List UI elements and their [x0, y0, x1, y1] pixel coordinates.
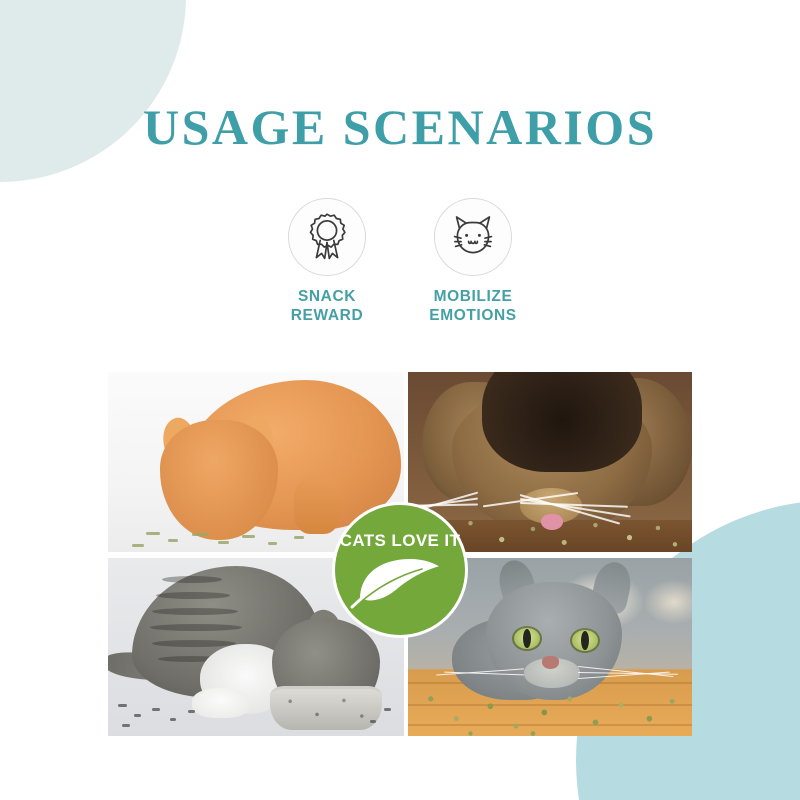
- badge-label: CATS LOVE IT: [340, 531, 461, 551]
- feature-label-snack-reward: SNACK REWARD: [291, 288, 364, 326]
- feature-mobilize-emotions: MOBILIZE EMOTIONS: [418, 198, 528, 326]
- leaf-icon: [348, 553, 452, 616]
- feature-list: SNACK REWARD MOBILIZE EMOTIONS: [272, 198, 528, 326]
- cat-face-icon: [434, 198, 512, 276]
- feature-snack-reward: SNACK REWARD: [272, 198, 382, 326]
- cats-love-it-badge: CATS LOVE IT: [332, 502, 468, 638]
- award-ribbon-icon: [288, 198, 366, 276]
- feature-label-mobilize-emotions: MOBILIZE EMOTIONS: [429, 288, 516, 326]
- usage-scenarios-infographic: USAGE SCENARIOS SNACK REWARD: [0, 0, 800, 800]
- page-title: USAGE SCENARIOS: [0, 98, 800, 156]
